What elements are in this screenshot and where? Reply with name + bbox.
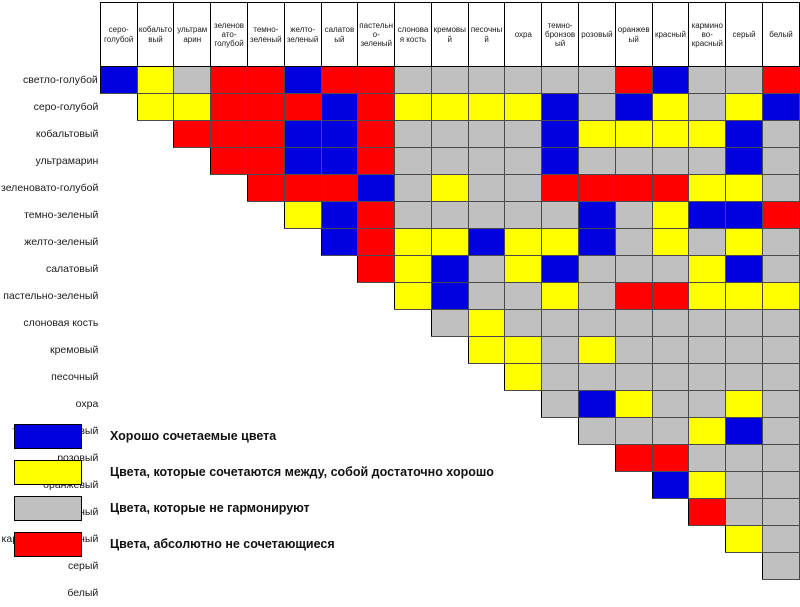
matrix-cell [137, 94, 174, 121]
matrix-cell-empty [174, 175, 211, 202]
matrix-cell [542, 310, 579, 337]
matrix-cell-empty [652, 580, 689, 607]
matrix-cell-empty [174, 202, 211, 229]
matrix-cell-empty [615, 526, 652, 553]
matrix-cell [579, 283, 616, 310]
matrix-column-header: кремовый [431, 3, 468, 67]
matrix-cell-empty [137, 283, 174, 310]
legend-label: Цвета, которые не гармонируют [110, 501, 310, 515]
matrix-cell-empty [284, 364, 321, 391]
matrix-cell [505, 229, 542, 256]
matrix-cell [726, 499, 763, 526]
matrix-cell-empty [137, 364, 174, 391]
matrix-cell [762, 229, 799, 256]
matrix-cell [542, 202, 579, 229]
matrix-cell [726, 256, 763, 283]
matrix-cell-empty [652, 526, 689, 553]
legend-swatch [14, 460, 82, 485]
color-combination-matrix-page: серо-голубойкобальтовыйультрамаринзелено… [0, 0, 800, 566]
matrix-cell [689, 148, 726, 175]
matrix-cell [762, 418, 799, 445]
matrix-cell-empty [211, 364, 248, 391]
matrix-cell [615, 148, 652, 175]
matrix-cell [505, 175, 542, 202]
matrix-cell-empty [174, 229, 211, 256]
matrix-cell [137, 67, 174, 94]
matrix-cell [542, 337, 579, 364]
matrix-cell [542, 121, 579, 148]
matrix-cell-empty [579, 553, 616, 580]
matrix-cell [762, 94, 799, 121]
matrix-cell [174, 121, 211, 148]
matrix-cell-empty [174, 310, 211, 337]
matrix-cell [652, 364, 689, 391]
matrix-cell [468, 202, 505, 229]
matrix-row-header: серо-голубой [0, 94, 100, 121]
matrix-cell [579, 364, 616, 391]
matrix-cell [247, 148, 284, 175]
matrix-cell-empty [431, 337, 468, 364]
matrix-cell-empty [100, 391, 137, 418]
matrix-corner-cell [0, 3, 100, 67]
matrix-cell [579, 121, 616, 148]
matrix-row: пастельно-зеленый [0, 283, 800, 310]
matrix-cell-empty [358, 337, 395, 364]
matrix-cell-empty [100, 94, 137, 121]
matrix-cell-empty [284, 337, 321, 364]
matrix-cell [689, 67, 726, 94]
matrix-row: серо-голубой [0, 94, 800, 121]
matrix-cell [579, 229, 616, 256]
matrix-cell-empty [284, 283, 321, 310]
legend-label: Цвета, абсолютно не сочетающиеся [110, 537, 335, 551]
matrix-cell-empty [358, 364, 395, 391]
matrix-cell [615, 67, 652, 94]
matrix-cell [284, 148, 321, 175]
legend-swatch [14, 496, 82, 521]
matrix-cell [321, 67, 358, 94]
matrix-cell-empty [542, 580, 579, 607]
matrix-cell [468, 337, 505, 364]
matrix-cell [468, 148, 505, 175]
matrix-row-header: салатовый [0, 256, 100, 283]
matrix-cell-empty [100, 202, 137, 229]
matrix-cell-empty [395, 364, 432, 391]
matrix-cell [689, 364, 726, 391]
matrix-row-header: ультрамарин [0, 148, 100, 175]
matrix-cell-empty [615, 472, 652, 499]
matrix-cell [652, 148, 689, 175]
matrix-cell-empty [505, 391, 542, 418]
matrix-cell [726, 94, 763, 121]
matrix-cell [321, 94, 358, 121]
matrix-cell [542, 67, 579, 94]
matrix-cell [468, 67, 505, 94]
matrix-cell-empty [431, 580, 468, 607]
matrix-cell-empty [100, 283, 137, 310]
matrix-cell [652, 418, 689, 445]
matrix-cell-empty [431, 364, 468, 391]
matrix-cell [726, 472, 763, 499]
legend-swatch [14, 532, 82, 557]
matrix-cell [579, 94, 616, 121]
matrix-cell [762, 391, 799, 418]
matrix-cell [431, 175, 468, 202]
matrix-cell [542, 175, 579, 202]
matrix-cell-empty [579, 499, 616, 526]
matrix-cell [542, 283, 579, 310]
matrix-cell-empty [137, 229, 174, 256]
matrix-cell [689, 418, 726, 445]
matrix-cell-empty [211, 175, 248, 202]
matrix-cell [284, 121, 321, 148]
matrix-cell-empty [174, 283, 211, 310]
matrix-cell-empty [579, 445, 616, 472]
matrix-cell [542, 229, 579, 256]
matrix-header: серо-голубойкобальтовыйультрамаринзелено… [0, 3, 800, 67]
matrix-cell [358, 148, 395, 175]
legend-label: Цвета, которые сочетаются между, собой д… [110, 465, 494, 479]
matrix-cell-empty [137, 391, 174, 418]
matrix-cell [726, 67, 763, 94]
matrix-cell [652, 202, 689, 229]
matrix-cell-empty [100, 148, 137, 175]
matrix-cell-empty [137, 202, 174, 229]
matrix-cell [505, 364, 542, 391]
matrix-cell [689, 499, 726, 526]
matrix-cell [762, 148, 799, 175]
matrix-column-header: оранжевый [615, 3, 652, 67]
matrix-cell [431, 229, 468, 256]
matrix-cell [615, 202, 652, 229]
matrix-cell-empty [174, 256, 211, 283]
matrix-row: темно-зеленый [0, 202, 800, 229]
matrix-cell-empty [321, 391, 358, 418]
matrix-cell [431, 148, 468, 175]
matrix-row-header: темно-зеленый [0, 202, 100, 229]
matrix-cell [762, 499, 799, 526]
matrix-column-header: карминово-красный [689, 3, 726, 67]
matrix-cell [726, 364, 763, 391]
matrix-cell-empty [211, 283, 248, 310]
matrix-cell [762, 67, 799, 94]
matrix-cell [579, 202, 616, 229]
matrix-cell-empty [358, 310, 395, 337]
matrix-row: слоновая кость [0, 310, 800, 337]
matrix-cell [579, 175, 616, 202]
matrix-cell [615, 283, 652, 310]
matrix-cell [174, 67, 211, 94]
matrix-row: желто-зеленый [0, 229, 800, 256]
matrix-cell [615, 256, 652, 283]
matrix-cell [615, 94, 652, 121]
matrix-cell [726, 391, 763, 418]
matrix-cell-empty [395, 391, 432, 418]
matrix-column-header: слоновая кость [395, 3, 432, 67]
matrix-cell [542, 94, 579, 121]
matrix-cell [211, 94, 248, 121]
matrix-row-header: кремовый [0, 337, 100, 364]
matrix-cell-empty [321, 337, 358, 364]
matrix-cell-empty [211, 310, 248, 337]
matrix-row: кобальтовый [0, 121, 800, 148]
matrix-cell-empty [579, 580, 616, 607]
matrix-cell-empty [358, 391, 395, 418]
matrix-cell [762, 121, 799, 148]
matrix-cell [726, 229, 763, 256]
matrix-cell [762, 256, 799, 283]
matrix-cell [615, 175, 652, 202]
matrix-column-header: ультрамарин [174, 3, 211, 67]
matrix-cell-empty [247, 391, 284, 418]
matrix-cell [689, 445, 726, 472]
matrix-column-header: темно-зеленый [247, 3, 284, 67]
matrix-cell [431, 202, 468, 229]
matrix-cell-empty [284, 229, 321, 256]
matrix-column-header: салатовый [321, 3, 358, 67]
matrix-cell-empty [100, 229, 137, 256]
matrix-cell [652, 256, 689, 283]
matrix-cell [762, 337, 799, 364]
matrix-cell [211, 67, 248, 94]
matrix-column-header: желто-зеленый [284, 3, 321, 67]
matrix-cell [652, 229, 689, 256]
matrix-row-header: песочный [0, 364, 100, 391]
matrix-cell [358, 202, 395, 229]
matrix-cell [247, 67, 284, 94]
matrix-cell-empty [211, 337, 248, 364]
matrix-cell-empty [284, 391, 321, 418]
matrix-cell [579, 337, 616, 364]
matrix-cell [615, 391, 652, 418]
matrix-cell [358, 67, 395, 94]
matrix-cell-empty [689, 553, 726, 580]
matrix-cell-empty [247, 580, 284, 607]
matrix-cell [615, 364, 652, 391]
matrix-cell [247, 94, 284, 121]
matrix-cell [689, 121, 726, 148]
matrix-cell [689, 310, 726, 337]
matrix-cell [579, 391, 616, 418]
matrix-cell-empty [468, 391, 505, 418]
matrix-cell [542, 148, 579, 175]
matrix-cell-empty [505, 580, 542, 607]
matrix-cell [689, 202, 726, 229]
matrix-cell-empty [284, 256, 321, 283]
matrix-cell-empty [137, 337, 174, 364]
matrix-cell [321, 202, 358, 229]
matrix-cell-empty [358, 283, 395, 310]
matrix-cell [321, 121, 358, 148]
matrix-cell [652, 445, 689, 472]
matrix-cell [468, 283, 505, 310]
matrix-cell [652, 310, 689, 337]
matrix-cell [726, 337, 763, 364]
matrix-cell-empty [247, 202, 284, 229]
matrix-cell-empty [100, 121, 137, 148]
matrix-cell-empty [100, 256, 137, 283]
matrix-column-header: пастельно-зеленый [358, 3, 395, 67]
matrix-cell-empty [137, 256, 174, 283]
matrix-cell-empty [100, 580, 137, 607]
matrix-cell [615, 229, 652, 256]
matrix-cell-empty [100, 364, 137, 391]
matrix-cell-empty [174, 391, 211, 418]
matrix-row: зеленовато-голубой [0, 175, 800, 202]
matrix-cell [431, 94, 468, 121]
matrix-cell [762, 175, 799, 202]
matrix-cell [762, 283, 799, 310]
matrix-cell [505, 310, 542, 337]
matrix-cell [505, 256, 542, 283]
matrix-cell-empty [468, 580, 505, 607]
matrix-cell [689, 229, 726, 256]
matrix-cell [468, 256, 505, 283]
matrix-cell [652, 121, 689, 148]
matrix-cell-empty [137, 121, 174, 148]
matrix-column-header: кобальтовый [137, 3, 174, 67]
matrix-cell [726, 121, 763, 148]
matrix-column-header: песочный [468, 3, 505, 67]
matrix-cell-empty [211, 229, 248, 256]
matrix-cell-empty [468, 364, 505, 391]
matrix-cell [395, 67, 432, 94]
matrix-cell [652, 472, 689, 499]
matrix-row: ультрамарин [0, 148, 800, 175]
matrix-column-header: белый [762, 3, 799, 67]
matrix-cell [579, 67, 616, 94]
matrix-cell [726, 283, 763, 310]
matrix-row-header: охра [0, 391, 100, 418]
matrix-column-header: охра [505, 3, 542, 67]
matrix-cell [689, 391, 726, 418]
matrix-cell-empty [247, 283, 284, 310]
matrix-row-header: зеленовато-голубой [0, 175, 100, 202]
matrix-cell [358, 256, 395, 283]
matrix-cell [726, 526, 763, 553]
matrix-cell-empty [579, 526, 616, 553]
matrix-cell [321, 148, 358, 175]
matrix-cell-empty [247, 337, 284, 364]
matrix-cell-empty [174, 364, 211, 391]
matrix-cell-empty [395, 337, 432, 364]
matrix-cell-empty [431, 391, 468, 418]
matrix-cell [468, 94, 505, 121]
matrix-cell [689, 337, 726, 364]
matrix-cell-empty [137, 310, 174, 337]
matrix-cell [652, 175, 689, 202]
matrix-cell [395, 148, 432, 175]
matrix-cell [431, 283, 468, 310]
matrix-cell [615, 310, 652, 337]
matrix-row: песочный [0, 364, 800, 391]
matrix-cell [505, 94, 542, 121]
matrix-cell-empty [247, 364, 284, 391]
matrix-cell [211, 121, 248, 148]
matrix-cell [726, 148, 763, 175]
matrix-cell-empty [321, 310, 358, 337]
matrix-cell [247, 121, 284, 148]
matrix-cell-empty [137, 580, 174, 607]
matrix-cell-empty [395, 310, 432, 337]
matrix-cell [542, 256, 579, 283]
matrix-cell [762, 472, 799, 499]
matrix-cell [431, 67, 468, 94]
matrix-row-header: светло-голубой [0, 67, 100, 94]
matrix-cell-empty [284, 310, 321, 337]
matrix-cell [431, 310, 468, 337]
matrix-cell-empty [321, 283, 358, 310]
matrix-cell [505, 67, 542, 94]
matrix-row-header: слоновая кость [0, 310, 100, 337]
matrix-cell [762, 202, 799, 229]
matrix-cell [726, 418, 763, 445]
matrix-cell [395, 256, 432, 283]
matrix-cell [579, 148, 616, 175]
matrix-cell [100, 67, 137, 94]
matrix-cell [615, 337, 652, 364]
matrix-cell [431, 121, 468, 148]
matrix-cell-empty [247, 229, 284, 256]
matrix-cell [431, 256, 468, 283]
matrix-cell [284, 202, 321, 229]
matrix-cell [689, 283, 726, 310]
matrix-cell [505, 121, 542, 148]
matrix-cell [174, 94, 211, 121]
matrix-column-header: розовый [579, 3, 616, 67]
matrix-cell [579, 256, 616, 283]
matrix-cell [689, 472, 726, 499]
matrix-cell-empty [284, 580, 321, 607]
matrix-cell [542, 391, 579, 418]
matrix-column-header: темно-бронзовый [542, 3, 579, 67]
matrix-cell [211, 148, 248, 175]
matrix-cell-empty [211, 256, 248, 283]
matrix-cell [358, 94, 395, 121]
matrix-cell [395, 202, 432, 229]
matrix-row-header: желто-зеленый [0, 229, 100, 256]
matrix-cell-empty [358, 580, 395, 607]
matrix-cell [762, 364, 799, 391]
matrix-cell [762, 526, 799, 553]
matrix-cell [358, 229, 395, 256]
matrix-cell [395, 229, 432, 256]
matrix-cell [726, 445, 763, 472]
matrix-row: белый [0, 580, 800, 607]
matrix-cell [395, 121, 432, 148]
matrix-cell [468, 229, 505, 256]
matrix-cell [468, 121, 505, 148]
matrix-cell [579, 418, 616, 445]
matrix-cell [726, 310, 763, 337]
matrix-cell [542, 364, 579, 391]
matrix-cell-empty [211, 391, 248, 418]
matrix-cell-empty [137, 148, 174, 175]
matrix-cell-empty [174, 580, 211, 607]
matrix-cell [358, 175, 395, 202]
matrix-cell [579, 310, 616, 337]
matrix-cell-empty [615, 499, 652, 526]
matrix-cell [652, 283, 689, 310]
matrix-cell [284, 94, 321, 121]
matrix-cell-empty [762, 580, 799, 607]
matrix-cell [505, 283, 542, 310]
matrix-cell [284, 67, 321, 94]
matrix-cell-empty [321, 580, 358, 607]
matrix-cell [652, 67, 689, 94]
matrix-cell-empty [100, 337, 137, 364]
matrix-cell-empty [174, 337, 211, 364]
